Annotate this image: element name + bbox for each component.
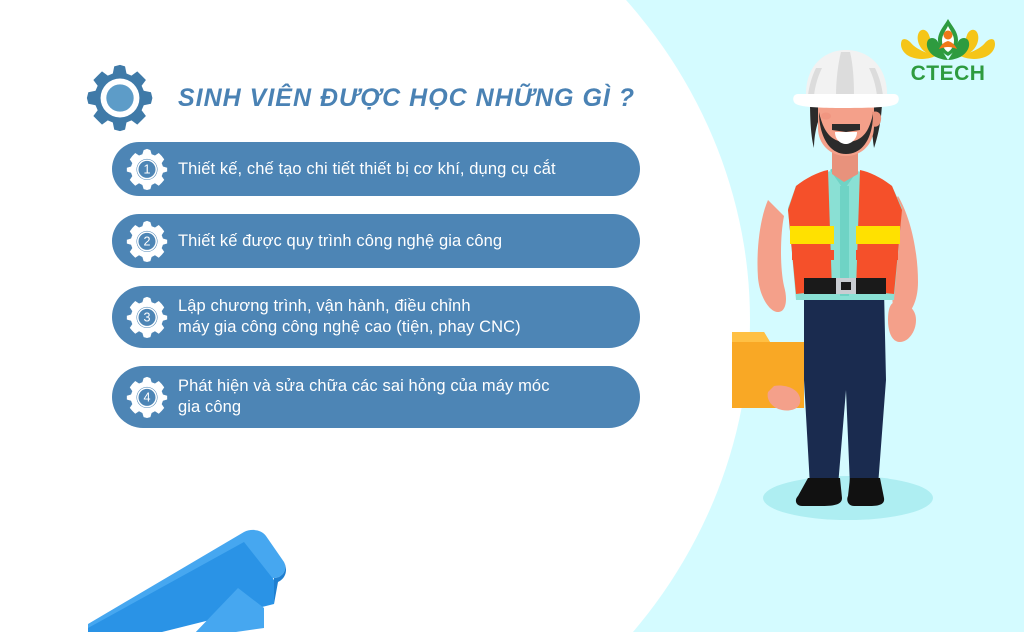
badge-number: 4 — [143, 390, 150, 404]
vest-stripe-left-2 — [792, 250, 834, 260]
list-item[interactable]: 2 Thiết kế được quy trình công nghệ gia … — [112, 214, 640, 268]
list-item-text: Phát hiện và sửa chữa các sai hỏng của m… — [178, 376, 550, 418]
vest-stripe-right — [856, 226, 900, 244]
badge-number: 1 — [143, 162, 150, 176]
list-item-line: Lập chương trình, vận hành, điều chỉnh — [178, 296, 521, 317]
gear-number-icon: 1 — [126, 148, 168, 190]
section-header: SINH VIÊN ĐƯỢC HỌC NHỮNG GÌ ? — [84, 62, 635, 134]
vest-stripe-left — [790, 226, 834, 244]
list-item[interactable]: 4 Phát hiện và sửa chữa các sai hỏng của… — [112, 366, 640, 428]
list-item-line: Phát hiện và sửa chữa các sai hỏng của m… — [178, 376, 550, 397]
badge-number: 3 — [143, 310, 150, 324]
list-item-line: Thiết kế được quy trình công nghệ gia cô… — [178, 231, 502, 252]
list-item-text: Lập chương trình, vận hành, điều chỉnh m… — [178, 296, 521, 338]
cheek — [821, 113, 831, 120]
gear-number-icon: 3 — [126, 296, 168, 338]
page-title: SINH VIÊN ĐƯỢC HỌC NHỮNG GÌ ? — [178, 84, 635, 113]
engineer-worker-illustration — [726, 50, 966, 530]
helmet-brim — [793, 94, 899, 108]
list-item-text: Thiết kế, chế tạo chi tiết thiết bị cơ k… — [178, 159, 556, 180]
badge-number: 2 — [143, 234, 150, 248]
gear-number-icon: 4 — [126, 376, 168, 418]
list-item-line: gia công — [178, 397, 550, 418]
list-item-line: Thiết kế, chế tạo chi tiết thiết bị cơ k… — [178, 159, 556, 180]
blue-3d-shape — [88, 528, 388, 632]
list-item[interactable]: 3 Lập chương trình, vận hành, điều chỉnh… — [112, 286, 640, 348]
list-item-text: Thiết kế được quy trình công nghệ gia cô… — [178, 231, 502, 252]
gear-icon — [84, 62, 156, 134]
pants — [804, 290, 886, 486]
list-item-line: máy gia công công nghệ cao (tiện, phay C… — [178, 317, 521, 338]
belt-buckle-inner — [841, 282, 851, 290]
vest-stripe-right-2 — [856, 250, 898, 260]
benefits-list: 1 Thiết kế, chế tạo chi tiết thiết bị cơ… — [112, 142, 652, 446]
gear-number-icon: 2 — [126, 220, 168, 262]
arm-left — [757, 200, 786, 312]
slide-canvas: SINH VIÊN ĐƯỢC HỌC NHỮNG GÌ ? 1 Thiết kế… — [0, 0, 1024, 632]
list-item[interactable]: 1 Thiết kế, chế tạo chi tiết thiết bị cơ… — [112, 142, 640, 196]
shoe-right — [847, 478, 884, 506]
folder-tab — [732, 332, 770, 342]
